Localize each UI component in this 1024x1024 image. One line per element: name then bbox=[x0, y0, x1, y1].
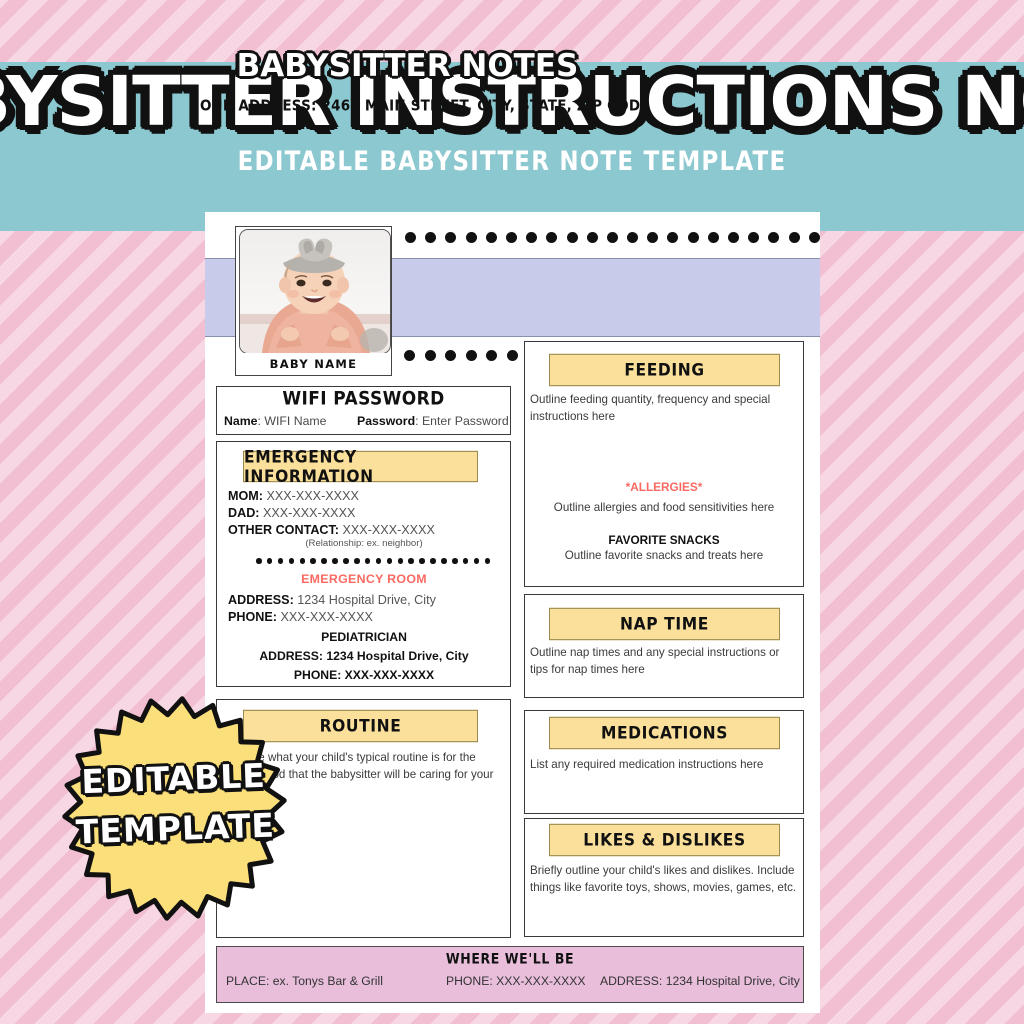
dot bbox=[430, 558, 436, 564]
badge-text: EDITABLE TEMPLATE bbox=[60, 750, 288, 858]
emergency-contact-dad[interactable]: DAD: XXX-XXX-XXXX bbox=[228, 506, 355, 520]
dot bbox=[289, 558, 295, 564]
dot bbox=[587, 232, 598, 243]
emergency-contact-mom[interactable]: MOM: XXX-XXX-XXXX bbox=[228, 489, 359, 503]
dot bbox=[768, 232, 779, 243]
notes-title: BABYSITTER NOTES bbox=[200, 48, 615, 84]
wifi-password-value: Enter Password bbox=[422, 414, 509, 428]
allergies-title: *ALLERGIES* bbox=[530, 480, 798, 494]
page-subtitle: EDITABLE BABYSITTER NOTE TEMPLATE bbox=[238, 147, 787, 177]
dot bbox=[486, 350, 497, 361]
dot bbox=[256, 558, 262, 564]
dot bbox=[425, 232, 436, 243]
badge-line-1: EDITABLE bbox=[60, 750, 287, 808]
dot bbox=[404, 350, 415, 361]
dot bbox=[376, 558, 382, 564]
dot bbox=[667, 232, 678, 243]
wifi-password-field[interactable]: Password: Enter Password bbox=[357, 414, 509, 428]
dot bbox=[748, 232, 759, 243]
dot bbox=[507, 350, 518, 361]
baby-name-label[interactable]: BABY NAME bbox=[235, 353, 392, 376]
colon: : bbox=[415, 414, 422, 428]
er-phone-value: XXX-XXX-XXXX bbox=[280, 610, 372, 624]
feeding-header: FEEDING bbox=[549, 354, 780, 386]
dot bbox=[405, 232, 416, 243]
er-address[interactable]: ADDRESS: 1234 Hospital Drive, City bbox=[228, 593, 436, 607]
dot bbox=[321, 558, 327, 564]
dot-divider-mid bbox=[404, 350, 527, 361]
dot bbox=[485, 558, 491, 564]
dot bbox=[425, 350, 436, 361]
dot bbox=[789, 232, 800, 243]
other-value: XXX-XXX-XXXX bbox=[343, 523, 435, 537]
title-banner: BABYSITTER INSTRUCTIONS NOTE EDITABLE BA… bbox=[0, 62, 1024, 231]
pediatrician-title: PEDIATRICIAN bbox=[228, 630, 500, 644]
dot bbox=[647, 232, 658, 243]
dot bbox=[267, 558, 273, 564]
dot bbox=[728, 232, 739, 243]
dot bbox=[452, 558, 458, 564]
notes-address: OUR ADDRESS: 2468 MAIN STREET, CITY, STA… bbox=[200, 97, 615, 115]
medications-text[interactable]: List any required medication instruction… bbox=[530, 757, 798, 774]
favorite-snacks-title: FAVORITE SNACKS bbox=[530, 533, 798, 547]
dot bbox=[445, 350, 456, 361]
er-address-label: ADDRESS: bbox=[228, 593, 294, 607]
dot bbox=[398, 558, 404, 564]
dot bbox=[474, 558, 480, 564]
likes-dislikes-text[interactable]: Briefly outline your child's likes and d… bbox=[530, 863, 798, 896]
editable-template-badge: EDITABLE TEMPLATE bbox=[62, 686, 287, 931]
wifi-password-label: Password bbox=[357, 414, 415, 428]
dot bbox=[365, 558, 371, 564]
dot bbox=[486, 232, 497, 243]
likes-dislikes-header: LIKES & DISLIKES bbox=[549, 824, 780, 856]
mom-label: MOM: bbox=[228, 489, 263, 503]
other-label: OTHER CONTACT: bbox=[228, 523, 339, 537]
er-phone-label: PHONE: bbox=[228, 610, 277, 624]
dot bbox=[441, 558, 447, 564]
dot bbox=[408, 558, 414, 564]
dot bbox=[310, 558, 316, 564]
dot bbox=[546, 232, 557, 243]
badge-line-2: TEMPLATE bbox=[62, 800, 289, 858]
er-phone[interactable]: PHONE: XXX-XXX-XXXX bbox=[228, 610, 373, 624]
allergies-text[interactable]: Outline allergies and food sensitivities… bbox=[530, 500, 798, 517]
nap-time-header: NAP TIME bbox=[549, 608, 780, 640]
dot bbox=[526, 232, 537, 243]
pediatrician-address[interactable]: ADDRESS: 1234 Hospital Drive, City bbox=[228, 649, 500, 663]
dot bbox=[466, 232, 477, 243]
dot bbox=[627, 232, 638, 243]
dot bbox=[419, 558, 425, 564]
dot bbox=[445, 232, 456, 243]
baby-photo-art bbox=[240, 230, 390, 353]
dot bbox=[343, 558, 349, 564]
mom-value: XXX-XXX-XXXX bbox=[266, 489, 358, 503]
footer-address[interactable]: ADDRESS: 1234 Hospital Drive, City bbox=[600, 974, 800, 988]
baby-photo[interactable] bbox=[239, 229, 391, 354]
emergency-contact-other[interactable]: OTHER CONTACT: XXX-XXX-XXXX bbox=[228, 523, 435, 537]
footer-place[interactable]: PLACE: ex. Tonys Bar & Grill bbox=[226, 974, 383, 988]
dot bbox=[354, 558, 360, 564]
dot-divider-emergency bbox=[256, 558, 496, 564]
dot bbox=[332, 558, 338, 564]
dot bbox=[688, 232, 699, 243]
emergency-room-title: EMERGENCY ROOM bbox=[228, 572, 500, 586]
wifi-name-field[interactable]: Name: WIFI Name bbox=[224, 414, 327, 428]
wifi-title: WIFI PASSWORD bbox=[216, 388, 511, 410]
dot bbox=[607, 232, 618, 243]
emergency-header: EMERGENCY INFORMATION bbox=[243, 451, 478, 482]
dot bbox=[506, 232, 517, 243]
dot bbox=[300, 558, 306, 564]
feeding-text[interactable]: Outline feeding quantity, frequency and … bbox=[530, 392, 798, 425]
nap-time-text[interactable]: Outline nap times and any special instru… bbox=[530, 645, 798, 678]
dot bbox=[708, 232, 719, 243]
dot bbox=[278, 558, 284, 564]
dot bbox=[387, 558, 393, 564]
dad-value: XXX-XXX-XXXX bbox=[263, 506, 355, 520]
dot bbox=[463, 558, 469, 564]
dot bbox=[567, 232, 578, 243]
medications-header: MEDICATIONS bbox=[549, 717, 780, 749]
favorite-snacks-text[interactable]: Outline favorite snacks and treats here bbox=[530, 548, 798, 565]
wifi-name-label: Name bbox=[224, 414, 258, 428]
er-address-value: 1234 Hospital Drive, City bbox=[297, 593, 436, 607]
where-well-be-title: WHERE WE'LL BE bbox=[216, 950, 804, 967]
pediatrician-phone[interactable]: PHONE: XXX-XXX-XXXX bbox=[228, 668, 500, 682]
wifi-name-value: WIFI Name bbox=[264, 414, 326, 428]
relationship-note: (Relationship: ex. neighbor) bbox=[228, 538, 500, 549]
dad-label: DAD: bbox=[228, 506, 259, 520]
footer-phone[interactable]: PHONE: XXX-XXX-XXXX bbox=[446, 974, 586, 988]
dot bbox=[809, 232, 820, 243]
dot bbox=[466, 350, 477, 361]
dot-divider-top bbox=[405, 232, 829, 243]
